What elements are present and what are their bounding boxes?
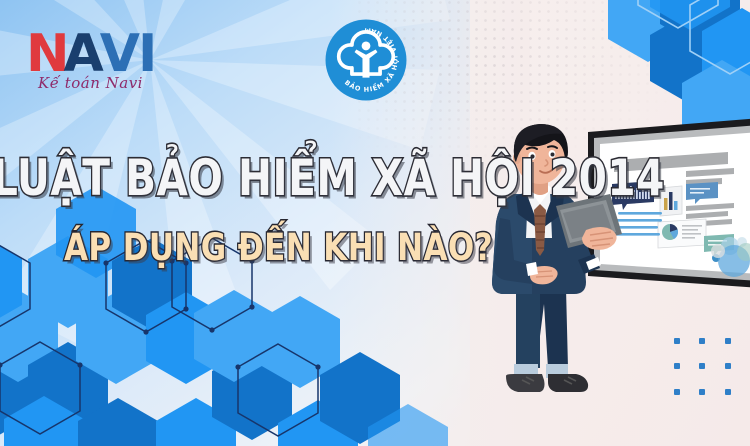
dot-grid-decoration (674, 338, 736, 400)
grid-dot (674, 338, 680, 344)
navi-logo-wordmark: N A VI (26, 28, 146, 80)
logo-letter-n: N (26, 28, 68, 80)
grid-dot (674, 363, 680, 369)
grid-dot (725, 389, 731, 395)
vietnam-social-security-emblem-icon: BẢO HIỂM XÃ HỘI VIỆT NAM (322, 16, 410, 104)
navi-logo[interactable]: N A VI Kế toán Navi (26, 28, 146, 98)
grid-dot (674, 389, 680, 395)
logo-letter-a: A (64, 28, 102, 80)
page-subtitle: ÁP DỤNG ĐẾN KHI NÀO? (64, 227, 504, 268)
board-pie-chart-card (658, 219, 706, 248)
logo-letters-vi: VI (100, 28, 156, 80)
grid-dot (725, 338, 731, 344)
page-title: LUẬT BẢO HIỂM XÃ HỘI 2014 (0, 151, 497, 205)
grid-dot (699, 389, 705, 395)
grid-dot (699, 338, 705, 344)
grid-dot (699, 363, 705, 369)
grid-dot (725, 363, 731, 369)
banner-canvas: N A VI Kế toán Navi BẢO HIỂM XÃ HỘI VIỆT… (0, 0, 750, 446)
